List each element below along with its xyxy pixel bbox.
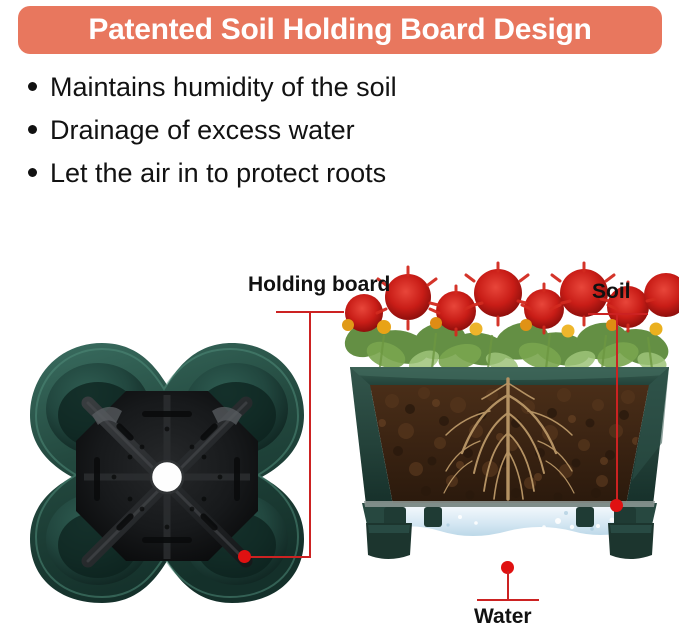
- bullet-icon: [28, 168, 37, 177]
- list-item: Maintains humidity of the soil: [28, 72, 588, 102]
- planter-cross-section-image: [340, 255, 679, 585]
- planter-top-view-svg: [22, 337, 312, 609]
- list-item: Let the air in to protect roots: [28, 158, 588, 188]
- bullet-icon: [28, 125, 37, 134]
- bullet-icon: [28, 82, 37, 91]
- feature-text: Let the air in to protect roots: [50, 158, 386, 188]
- header-banner: Patented Soil Holding Board Design: [18, 6, 662, 54]
- callout-line-holding-board-arm: [248, 556, 311, 558]
- planter-top-view-image: [22, 337, 312, 609]
- callout-line-water-stem: [507, 571, 509, 601]
- product-diagram: Holding board Soil Water: [0, 255, 679, 635]
- callout-dot-holding-board: [238, 550, 251, 563]
- callout-label-soil: Soil: [592, 280, 631, 304]
- soil-body: [370, 379, 649, 505]
- callout-dot-soil: [610, 499, 623, 512]
- list-item: Drainage of excess water: [28, 115, 588, 145]
- planter-cross-section-svg: [340, 255, 679, 585]
- callout-label-holding-board: Holding board: [248, 273, 390, 297]
- feature-text: Drainage of excess water: [50, 115, 355, 145]
- soil-holding-board: [76, 391, 258, 561]
- callout-line-holding-board-stem: [309, 311, 311, 557]
- callout-line-water-bar: [477, 599, 539, 601]
- callout-label-water: Water: [474, 605, 532, 629]
- callout-line-soil-bar: [588, 313, 648, 315]
- callout-line-soil-stem: [616, 313, 618, 507]
- feature-list: Maintains humidity of the soil Drainage …: [28, 72, 588, 202]
- feature-text: Maintains humidity of the soil: [50, 72, 397, 102]
- page-title: Patented Soil Holding Board Design: [88, 15, 591, 45]
